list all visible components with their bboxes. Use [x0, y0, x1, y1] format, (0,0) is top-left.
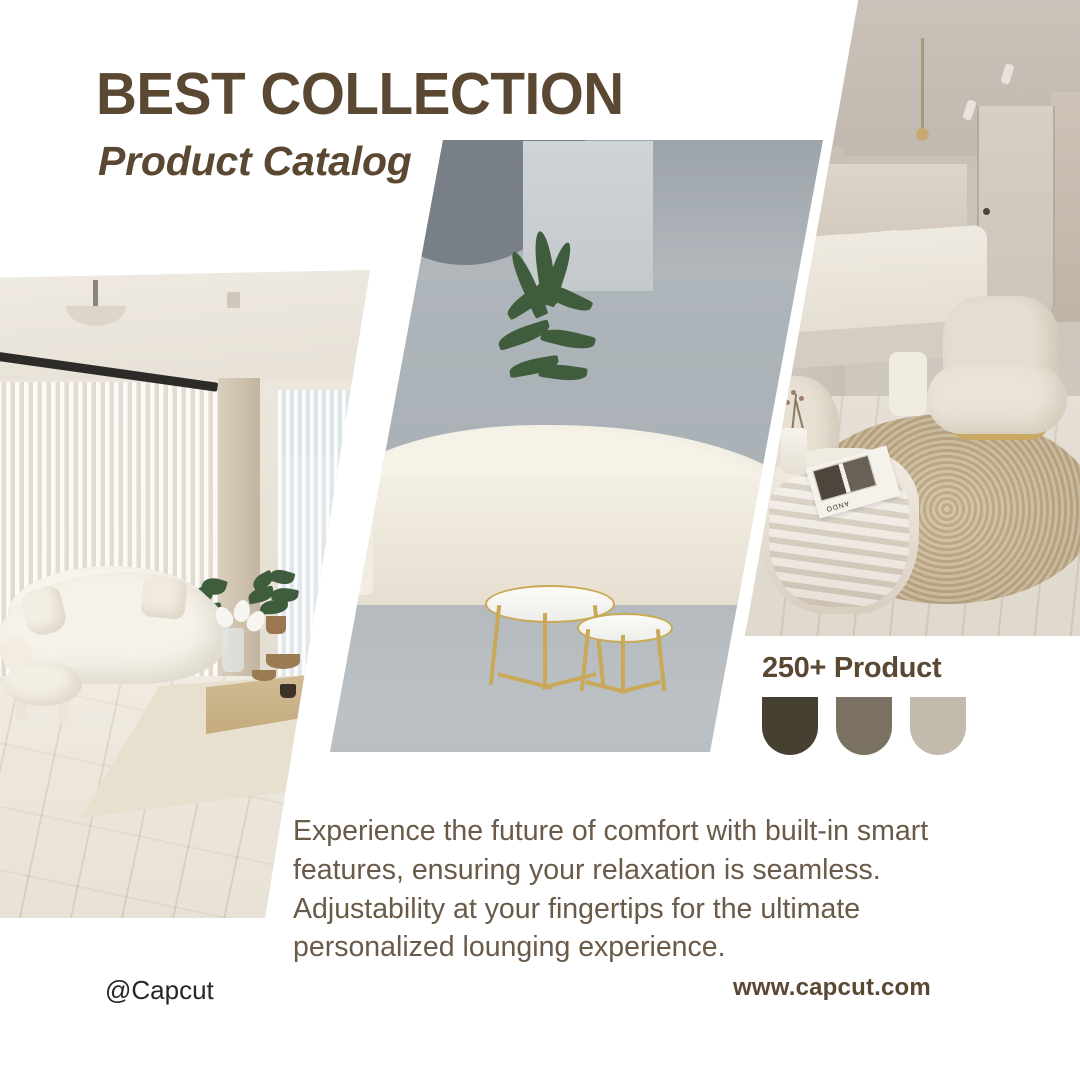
swatch-light-greige[interactable] — [910, 697, 966, 755]
door — [977, 106, 1055, 306]
description-paragraph: Experience the future of comfort with bu… — [293, 812, 973, 967]
color-swatch-row — [762, 697, 966, 755]
marble-table-small-leg — [621, 635, 625, 693]
ceiling — [0, 270, 380, 390]
page-title: BEST COLLECTION — [96, 62, 624, 127]
studio-sofa-photo — [325, 135, 830, 757]
white-side-stool — [889, 352, 927, 416]
dried-berry — [791, 390, 796, 395]
dried-berry — [785, 400, 790, 405]
bird-of-paradise-plant — [491, 231, 601, 441]
accent-chair-seat — [4, 662, 82, 706]
poster-canvas: BEST COLLECTION Product Catalog — [0, 0, 1080, 1080]
website-url[interactable]: www.capcut.com — [733, 974, 931, 1002]
pendant-lamp-rod — [93, 280, 98, 308]
studio-scene — [325, 135, 830, 757]
dried-berry — [799, 396, 804, 401]
social-handle: @Capcut — [105, 975, 214, 1006]
dark-cup — [280, 684, 296, 698]
marble-table-large-leg — [543, 613, 547, 689]
pendant-rod — [921, 38, 924, 130]
book-title: ANDO — [824, 499, 849, 512]
swatch-dark-olive[interactable] — [762, 697, 818, 755]
sofa-pillow-right — [140, 576, 188, 620]
lounge-chair-seat — [927, 364, 1067, 434]
wooden-bowl-small — [252, 670, 276, 681]
ceramic-vase — [781, 428, 807, 474]
page-subtitle: Product Catalog — [98, 138, 412, 185]
glass-vase — [222, 628, 244, 672]
round-pouf — [325, 555, 363, 611]
wardrobe — [1051, 92, 1080, 322]
product-count-block: 250+ Product — [762, 652, 966, 755]
swatch-taupe[interactable] — [836, 697, 892, 755]
ceiling-spotlight — [227, 292, 240, 308]
wooden-bowl — [266, 654, 300, 669]
door-knob — [983, 208, 990, 215]
pendant-globe — [916, 128, 929, 141]
product-count-label: 250+ Product — [762, 652, 966, 685]
